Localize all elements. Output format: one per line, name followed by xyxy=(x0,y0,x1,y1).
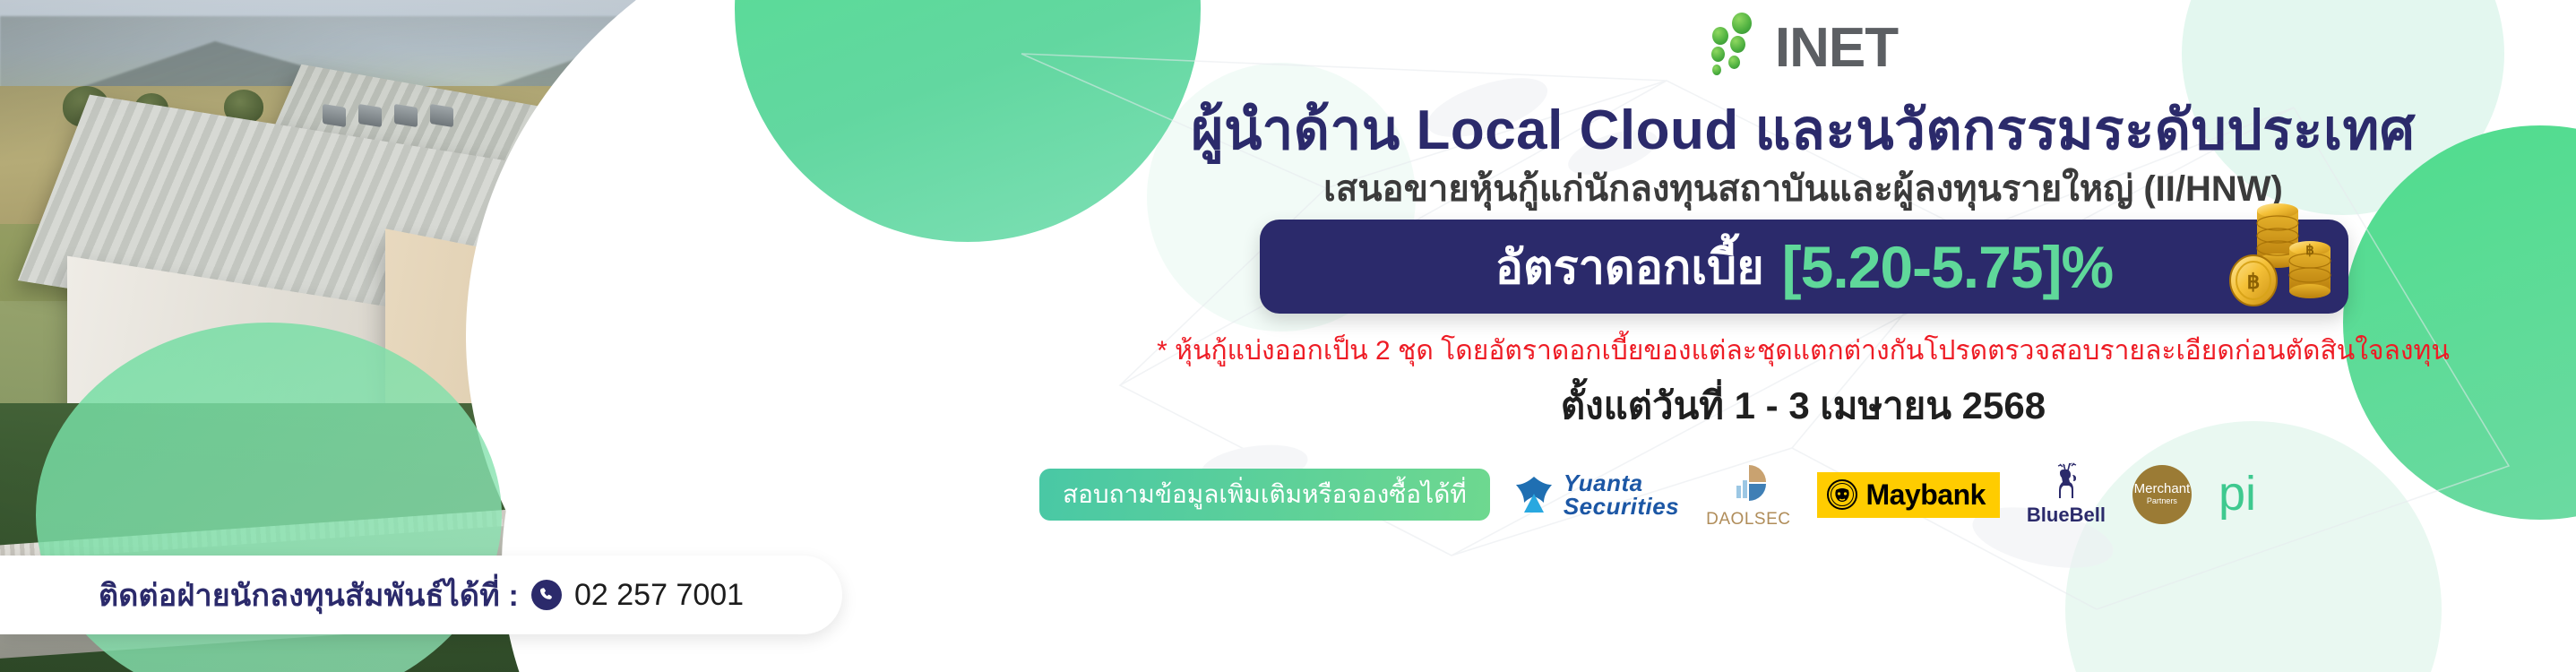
yuanta-line-1: Yuanta xyxy=(1564,471,1679,495)
phone-icon xyxy=(531,580,562,610)
gold-coin-stack-icon: ฿ ฿ xyxy=(2223,198,2339,313)
yuanta-star-icon xyxy=(1513,474,1555,515)
svg-text:฿: ฿ xyxy=(2247,271,2261,293)
contact-phone-number: 02 257 7001 xyxy=(574,578,744,613)
partner-logo-maybank[interactable]: Maybank xyxy=(1817,472,1999,518)
partner-logo-pi[interactable]: pi xyxy=(2218,475,2256,513)
contact-label: ติดต่อฝ่ายนักลงทุนสัมพันธ์ได้ที่ : xyxy=(99,571,519,619)
inet-dots-icon xyxy=(1709,13,1766,75)
daol-word-main: DAOL xyxy=(1706,510,1754,529)
offer-date-range: ตั้งแต่วันที่ 1 - 3 เมษายน 2568 xyxy=(1030,376,2576,435)
inquiry-cta-button[interactable]: สอบถามข้อมูลเพิ่มเติมหรือจองซื้อได้ที่ xyxy=(1039,469,1490,521)
yuanta-wordmark: Yuanta Securities xyxy=(1564,471,1679,518)
yuanta-line-2: Securities xyxy=(1564,495,1679,518)
disclaimer-text: * หุ้นกู้แบ่งออกเป็น 2 ชุด โดยอัตราดอกเบ… xyxy=(1030,330,2576,372)
partner-logo-merchant-partners[interactable]: Merchant Partners xyxy=(2132,465,2192,524)
promotional-banner: INET ผู้นำด้าน Local Cloud และนวัตกรรมระ… xyxy=(0,0,2576,672)
merchant-line-1: Merchant xyxy=(2134,482,2191,495)
inet-logo-text: INET xyxy=(1775,22,1898,75)
interest-rate-label: อัตราดอกเบี้ย xyxy=(1495,229,1764,304)
svg-text:฿: ฿ xyxy=(2305,244,2314,258)
bluebell-deer-icon xyxy=(2046,462,2087,502)
maybank-tiger-icon xyxy=(1826,478,1858,511)
cta-and-partners-row: สอบถามข้อมูลเพิ่มเติมหรือจองซื้อได้ที่ Y… xyxy=(1039,450,2567,539)
daol-word-suffix: SEC xyxy=(1754,510,1791,529)
maybank-wordmark: Maybank xyxy=(1865,478,1985,512)
interest-rate-value: [5.20-5.75]% xyxy=(1782,233,2114,301)
partner-logo-daol[interactable]: DAOLSEC xyxy=(1706,461,1790,530)
banner-content: INET ผู้นำด้าน Local Cloud และนวัตกรรมระ… xyxy=(1030,0,2576,672)
daol-pie-chart-icon xyxy=(1722,461,1774,507)
investor-relations-contact-card: ติดต่อฝ่ายนักลงทุนสัมพันธ์ได้ที่ : 02 25… xyxy=(0,556,842,634)
interest-rate-box: อัตราดอกเบี้ย [5.20-5.75]% xyxy=(1260,220,2348,314)
bluebell-wordmark: BlueBell xyxy=(2027,504,2106,527)
inet-logo: INET xyxy=(1030,13,2576,75)
partner-logos: Yuanta Securities DAOLSEC xyxy=(1513,461,2256,530)
merchant-line-2: Partners xyxy=(2147,495,2177,507)
subheadline: เสนอขายหุ้นกู้แก่นักลงทุนสถาบันและผู้ลงท… xyxy=(1030,159,2576,217)
merchant-circle-icon: Merchant Partners xyxy=(2132,465,2192,524)
daol-wordmark: DAOLSEC xyxy=(1706,510,1790,530)
partner-logo-bluebell[interactable]: BlueBell xyxy=(2027,462,2106,527)
pi-wordmark: pi xyxy=(2218,475,2256,513)
partner-logo-yuanta[interactable]: Yuanta Securities xyxy=(1513,471,1679,518)
